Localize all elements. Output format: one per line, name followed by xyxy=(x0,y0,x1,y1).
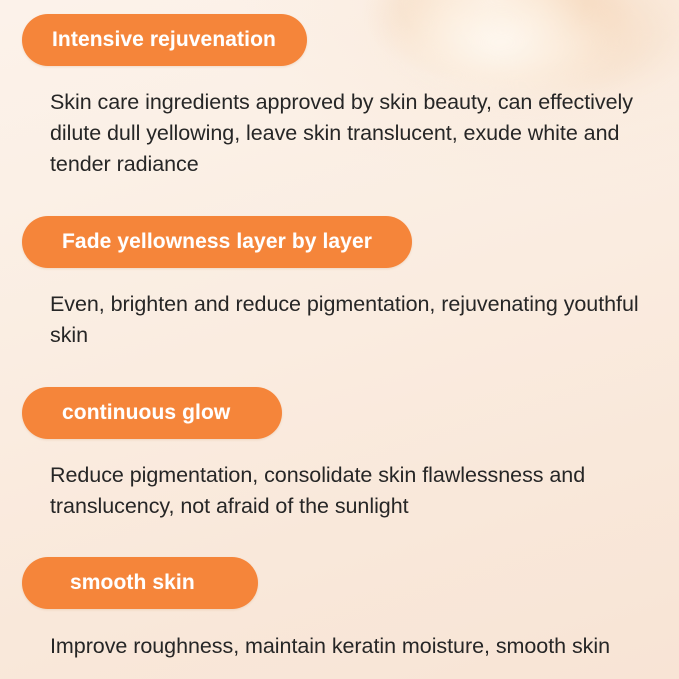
benefit-description-1: Skin care ingredients approved by skin b… xyxy=(0,87,679,180)
benefit-description-4: Improve roughness, maintain keratin mois… xyxy=(0,631,679,662)
benefit-section-4: smooth skin Improve roughness, maintain … xyxy=(0,522,679,662)
benefit-description-2: Even, brighten and reduce pigmentation, … xyxy=(0,289,679,351)
benefit-badge-fade-yellowness[interactable]: Fade yellowness layer by layer xyxy=(22,216,412,268)
benefit-badge-intensive-rejuvenation[interactable]: Intensive rejuvenation xyxy=(22,14,307,66)
benefit-description-3: Reduce pigmentation, consolidate skin fl… xyxy=(0,460,679,522)
benefit-section-2: Fade yellowness layer by layer Even, bri… xyxy=(0,180,679,351)
benefit-section-1: Intensive rejuvenation Skin care ingredi… xyxy=(0,0,679,180)
benefit-badge-smooth-skin[interactable]: smooth skin xyxy=(22,557,258,609)
benefits-list: Intensive rejuvenation Skin care ingredi… xyxy=(0,0,679,662)
benefit-section-3: continuous glow Reduce pigmentation, con… xyxy=(0,351,679,522)
benefit-badge-continuous-glow[interactable]: continuous glow xyxy=(22,387,282,439)
product-benefits-panel: Intensive rejuvenation Skin care ingredi… xyxy=(0,0,679,679)
